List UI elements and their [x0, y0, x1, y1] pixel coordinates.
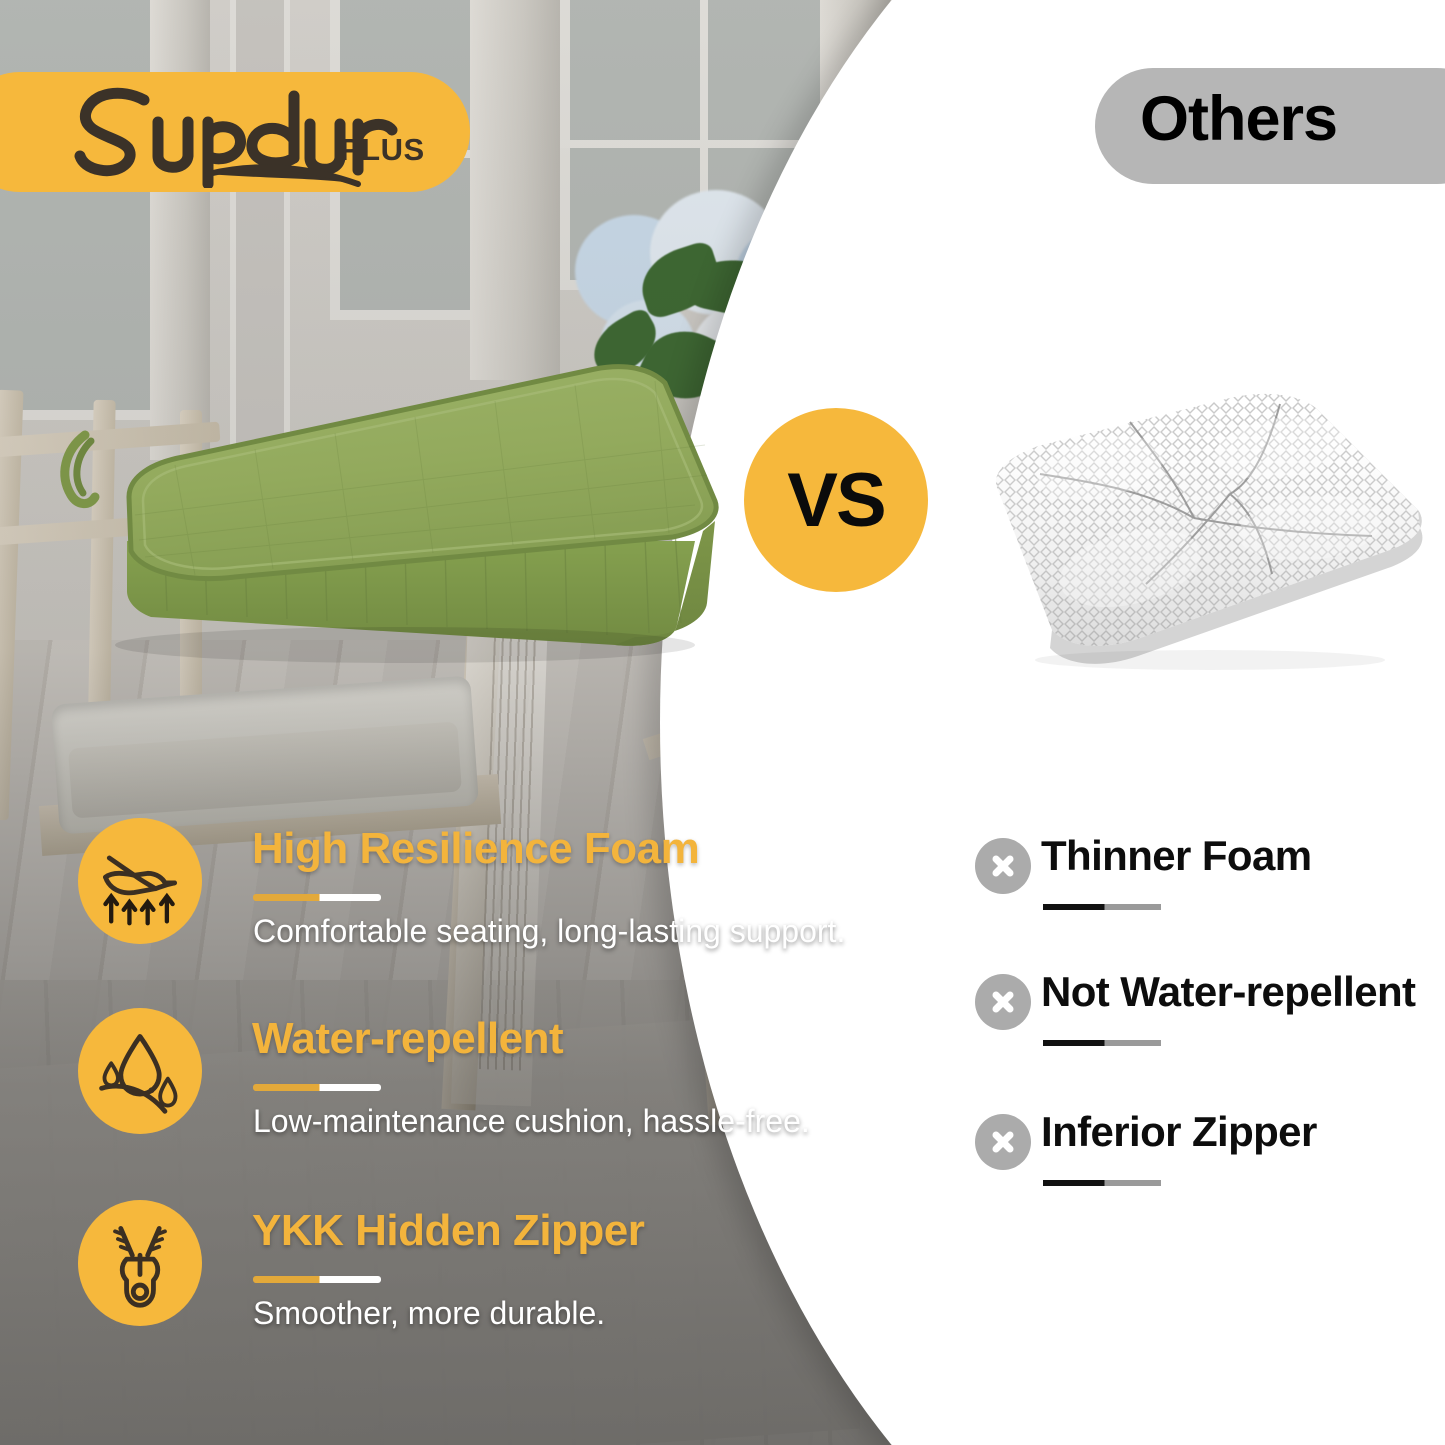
feature-divider	[253, 1276, 381, 1283]
competitor-product-image	[980, 378, 1430, 678]
feature-high-resilience-foam: High Resilience Foam Comfortable seating…	[70, 818, 810, 958]
vs-badge: VS	[744, 408, 928, 592]
con-title: Inferior Zipper	[1041, 1108, 1317, 1156]
circle-x-icon	[975, 838, 1031, 894]
feature-subtitle: Smoother, more durable.	[253, 1295, 605, 1332]
con-divider	[1043, 1180, 1161, 1186]
brand-logo-suffix: PLUS	[340, 132, 425, 168]
feature-divider	[253, 894, 381, 901]
our-product-image	[55, 345, 745, 685]
zipper-icon	[78, 1200, 202, 1326]
con-title: Not Water-repellent	[1041, 968, 1415, 1016]
con-title: Thinner Foam	[1041, 832, 1311, 880]
con-divider	[1043, 904, 1161, 910]
feature-title: YKK Hidden Zipper	[252, 1206, 644, 1256]
feature-divider	[253, 1084, 381, 1091]
feature-water-repellent: Water-repellent Low-maintenance cushion,…	[70, 1008, 810, 1148]
feature-ykk-hidden-zipper: YKK Hidden Zipper Smoother, more durable…	[70, 1200, 810, 1340]
con-thinner-foam: Thinner Foam	[975, 832, 1445, 952]
others-label: Others	[1140, 83, 1445, 155]
vs-label: VS	[787, 457, 884, 544]
water-droplet-repel-icon	[78, 1008, 202, 1134]
feature-subtitle: Low-maintenance cushion, hassle-free.	[253, 1103, 810, 1140]
con-inferior-zipper: Inferior Zipper	[975, 1108, 1445, 1228]
circle-x-icon	[975, 1114, 1031, 1170]
con-not-water-repellent: Not Water-repellent	[975, 968, 1445, 1088]
con-divider	[1043, 1040, 1161, 1046]
circle-x-icon	[975, 974, 1031, 1030]
feature-subtitle: Comfortable seating, long-lasting suppor…	[253, 913, 845, 950]
hand-supporting-foam-icon	[78, 818, 202, 944]
feature-title: Water-repellent	[252, 1014, 563, 1064]
feature-title: High Resilience Foam	[252, 824, 699, 874]
comparison-infographic: PLUS Others VS Hig	[0, 0, 1445, 1445]
